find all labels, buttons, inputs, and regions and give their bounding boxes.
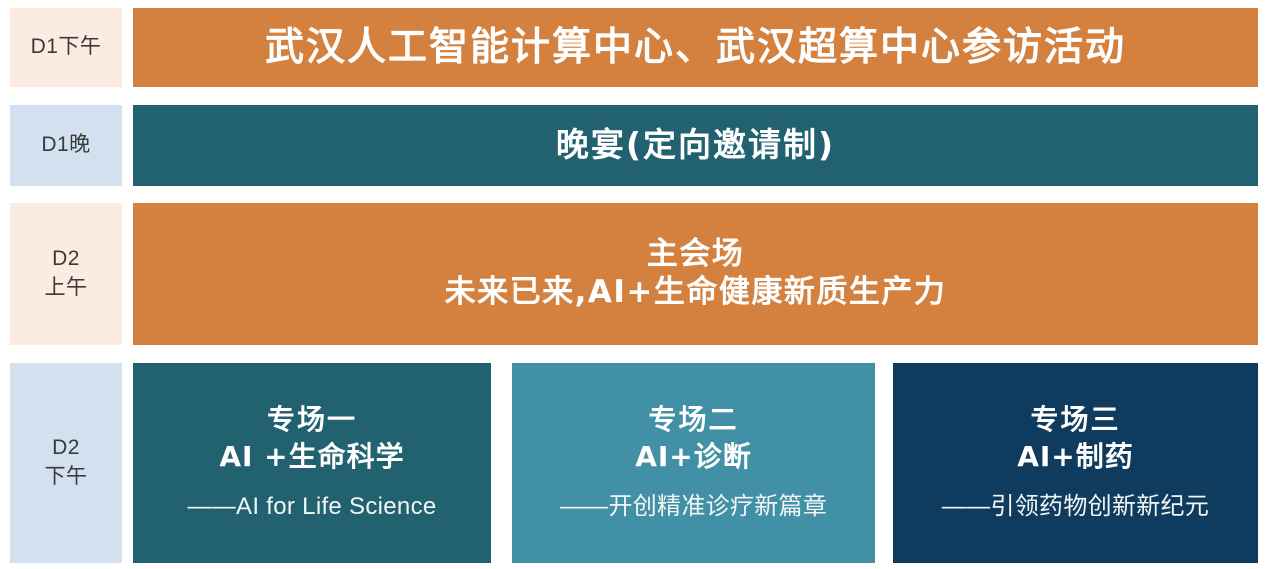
session-title: 专场三 [1030, 405, 1120, 436]
session-title: 专场二 [648, 405, 738, 436]
agenda-block-title: 主会场 [647, 236, 745, 274]
day-label-d2-morning: D2 上午 [10, 203, 122, 345]
agenda-block-title: 晚宴(定向邀请制) [556, 125, 835, 165]
session-subtitle: AI+诊断 [635, 442, 752, 473]
day-label-line1: D2 [52, 434, 80, 463]
session-subtitle: AI +生命科学 [219, 442, 404, 473]
session-description: ——开创精准诊疗新篇章 [560, 493, 827, 521]
agenda-schedule-table: D1下午 武汉人工智能计算中心、武汉超算中心参访活动 D1晚 晚宴(定向邀请制)… [0, 0, 1268, 569]
session-description: ——AI for Life Science [187, 493, 436, 521]
day-label-line1: D2 [52, 245, 80, 274]
day-label-line1: D1晚 [41, 131, 90, 160]
day-label-line2: 下午 [45, 463, 88, 492]
day-label-d1-evening: D1晚 [10, 105, 122, 186]
day-label-line1: D1下午 [31, 33, 102, 62]
agenda-block-d1-evening: 晚宴(定向邀请制) [133, 105, 1258, 186]
session-panel-2[interactable]: 专场二 AI+诊断 ——开创精准诊疗新篇章 [512, 363, 875, 563]
agenda-block-d1-afternoon: 武汉人工智能计算中心、武汉超算中心参访活动 [133, 8, 1258, 87]
session-panel-1[interactable]: 专场一 AI +生命科学 ——AI for Life Science [133, 363, 491, 563]
day-label-d2-afternoon: D2 下午 [10, 363, 122, 563]
day-label-d1-afternoon: D1下午 [10, 8, 122, 87]
day-label-line2: 上午 [45, 274, 88, 303]
session-title: 专场一 [267, 405, 357, 436]
agenda-block-d2-morning: 主会场 未来已来,AI+生命健康新质生产力 [133, 203, 1258, 345]
session-subtitle: AI+制药 [1017, 442, 1134, 473]
session-panel-3[interactable]: 专场三 AI+制药 ——引领药物创新新纪元 [893, 363, 1258, 563]
agenda-block-title: 武汉人工智能计算中心、武汉超算中心参访活动 [265, 24, 1126, 72]
agenda-block-subtitle: 未来已来,AI+生命健康新质生产力 [445, 274, 947, 312]
session-description: ——引领药物创新新纪元 [942, 493, 1209, 521]
